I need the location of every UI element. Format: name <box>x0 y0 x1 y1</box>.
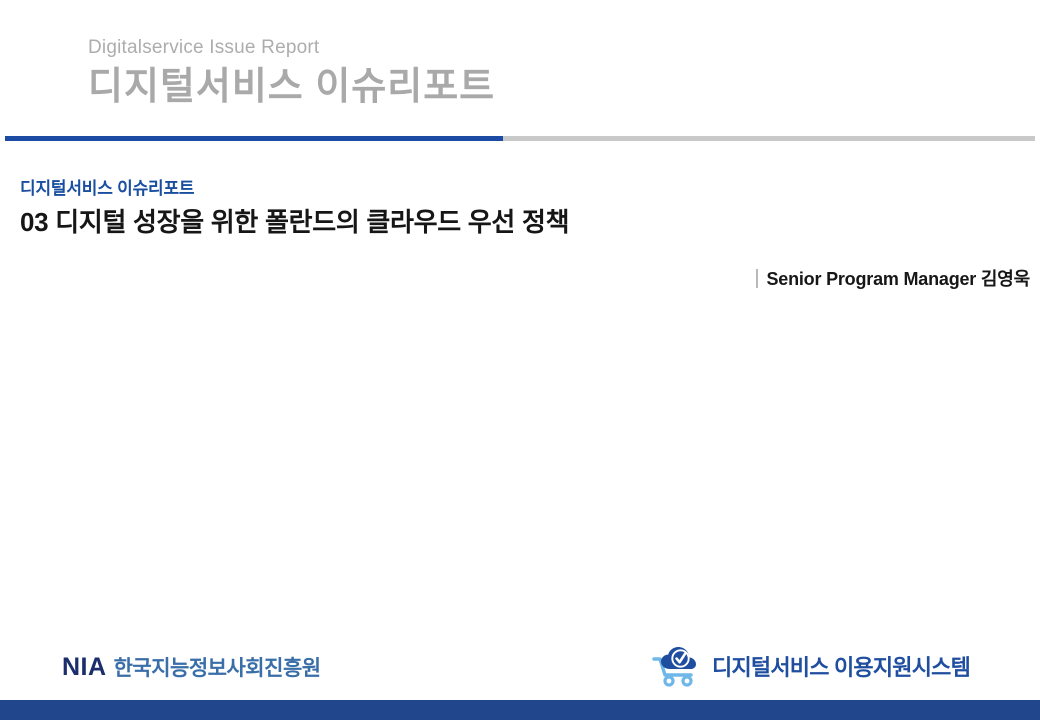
nia-logo: NIA 한국지능정보사회진흥원 <box>62 652 321 682</box>
nia-organization-name: 한국지능정보사회진흥원 <box>114 652 321 682</box>
nia-wordmark: NIA <box>62 653 107 682</box>
byline: Senior Program Manager 김영욱 <box>756 265 1030 291</box>
masthead-korean-title: 디지털서비스 이슈리포트 <box>88 64 728 110</box>
report-kicker: 디지털서비스 이슈리포트 <box>20 178 1020 200</box>
masthead-english-title: Digitalservice Issue Report <box>88 36 728 60</box>
header-divider <box>5 136 1035 141</box>
digital-service-support-logo: 디지털서비스 이용지원시스템 <box>650 645 970 687</box>
page-title: 03 디지털 성장을 위한 폴란드의 클라우드 우선 정책 <box>20 206 1020 238</box>
masthead: Digitalservice Issue Report 디지털서비스 이슈리포트 <box>88 36 728 110</box>
title-block: 디지털서비스 이슈리포트 03 디지털 성장을 위한 폴란드의 클라우드 우선 … <box>20 178 1020 238</box>
cloud-check-cart-icon <box>650 645 702 687</box>
byline-author: Senior Program Manager 김영욱 <box>766 265 1030 291</box>
header-divider-accent <box>5 136 503 141</box>
footer-bar <box>0 700 1040 720</box>
byline-divider-icon <box>756 269 758 288</box>
digital-service-support-name: 디지털서비스 이용지원시스템 <box>712 650 970 682</box>
